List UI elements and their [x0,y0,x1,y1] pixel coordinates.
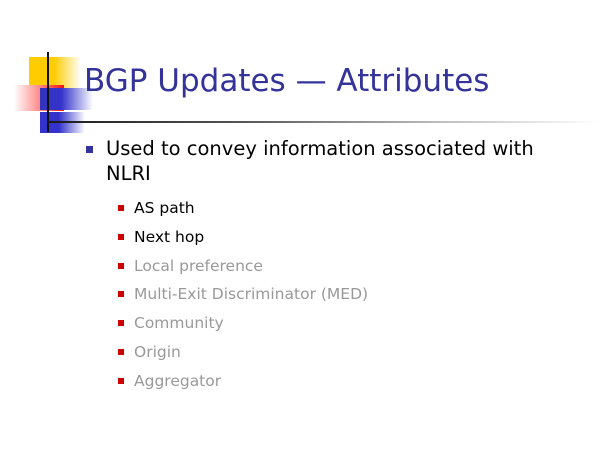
slide-title: BGP Updates — Attributes [84,62,584,100]
bullet-square-icon [118,234,124,240]
slide-body: Used to convey information associated wi… [0,136,600,396]
bullet-level2-label: Next hop [134,223,582,252]
bullet-level2: Local preference [0,252,600,281]
bullet-level1: Used to convey information associated wi… [0,136,600,186]
bullet-level2: Multi-Exit Discriminator (MED) [0,280,600,309]
bullet-level2: Community [0,309,600,338]
bullet-level2-list: AS path Next hop Local preference Multi-… [0,194,600,396]
title-divider [47,121,600,123]
bullet-level1-label: Used to convey information associated wi… [106,136,582,186]
yellow-square-icon [29,57,81,88]
bullet-level2: Aggregator [0,367,600,396]
vertical-rule-icon [47,52,49,132]
slide-canvas: BGP Updates — Attributes Used to convey … [0,0,600,450]
bullet-square-icon [118,291,124,297]
bullet-level2: AS path [0,194,600,223]
bullet-square-icon [86,146,93,153]
bullet-square-icon [118,378,124,384]
bullet-level2-label: Origin [134,338,582,367]
bullet-square-icon [118,263,124,269]
bullet-level2-label: Multi-Exit Discriminator (MED) [134,280,582,309]
bullet-level2-label: Local preference [134,252,582,281]
bullet-square-icon [118,349,124,355]
bullet-square-icon [118,320,124,326]
bullet-level2: Next hop [0,223,600,252]
bullet-level2-label: Community [134,309,582,338]
bullet-level2-label: AS path [134,194,582,223]
bullet-level2: Origin [0,338,600,367]
bullet-level2-label: Aggregator [134,367,582,396]
bullet-square-icon [118,205,124,211]
